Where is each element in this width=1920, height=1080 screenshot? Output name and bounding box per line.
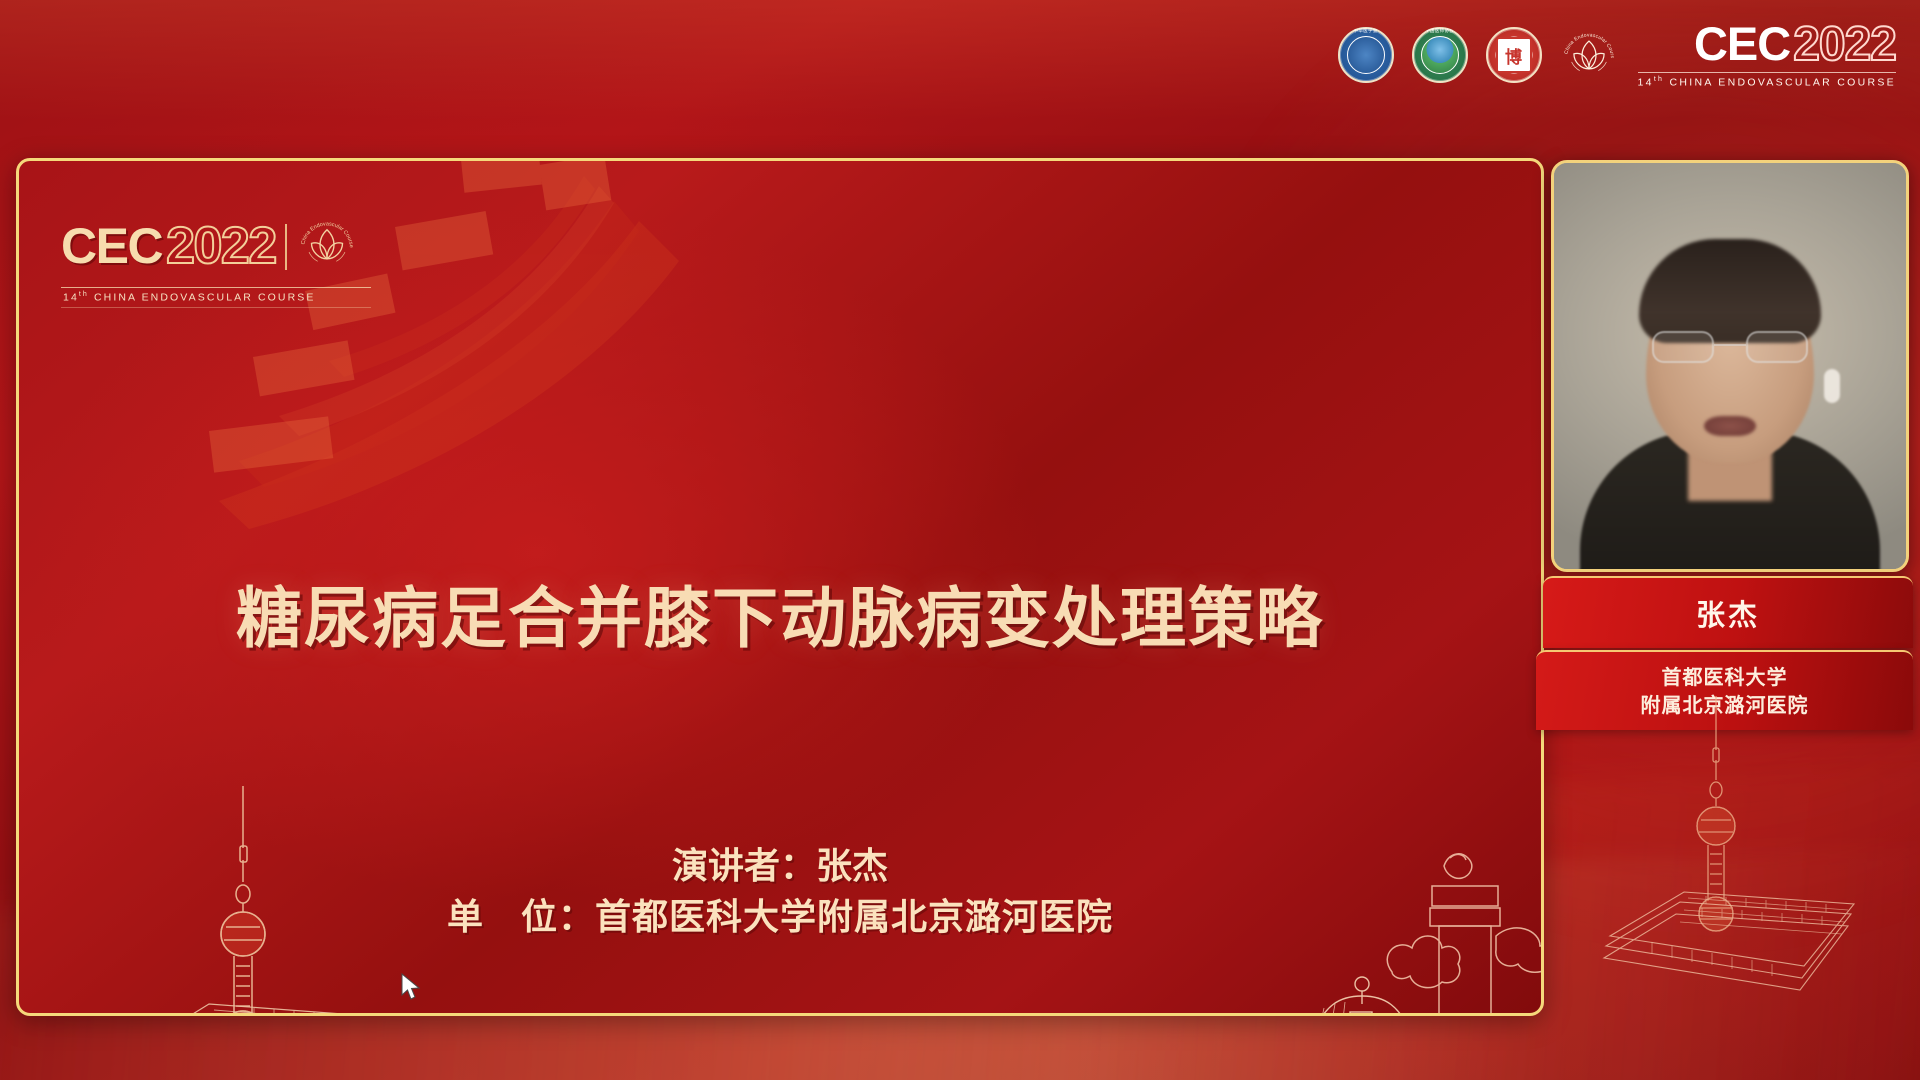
- slide-lotus-caption: China Endovascular Course: [300, 221, 354, 248]
- slide-cec-year: 2022: [166, 223, 276, 270]
- speaker-glasses-icon: [1652, 331, 1808, 365]
- speaker-affiliation-plate: 首都医科大学 附属北京潞河医院: [1536, 650, 1913, 730]
- slide-sub-rest: CHINA ENDOVASCULAR COURSE: [94, 292, 316, 304]
- slide-title: 糖尿病足合并膝下动脉病变处理策略: [19, 565, 1541, 661]
- mouse-pointer-icon: [401, 973, 423, 1003]
- slide-cec-subtitle: 14th CHINA ENDOVASCULAR COURSE: [61, 287, 371, 308]
- webinar-screen: 中华医学会 中国医师协会: [0, 0, 1920, 1080]
- seal-china-health-association-icon: 中国医师协会: [1412, 27, 1468, 83]
- affiliation-line-2: 附属北京潞河医院: [1641, 691, 1809, 719]
- speaker-earbud-icon: [1824, 369, 1840, 403]
- slide-unit-line: 单 位：首都医科大学附属北京潞河医院: [19, 892, 1541, 943]
- slide-speaker-line: 演讲者：张杰: [19, 841, 1541, 892]
- presentation-slide[interactable]: CEC 2022: [16, 158, 1544, 1016]
- header-sub-rest: CHINA ENDOVASCULAR COURSE: [1669, 76, 1896, 88]
- slide-cec-logo: CEC 2022: [61, 213, 371, 308]
- seal-label-2: 中国医师协会: [1412, 27, 1468, 83]
- speaker-video-card[interactable]: [1551, 160, 1909, 572]
- slide-sub-ordinal: 14: [63, 292, 79, 304]
- header-cec-wordmark: CEC 2022 14th CHINA ENDOVASCULAR COURSE: [1638, 22, 1896, 88]
- seal-chinese-medical-association-icon: 中华医学会: [1338, 27, 1394, 83]
- header-logo-strip: 中华医学会 中国医师协会: [1338, 16, 1896, 94]
- slide-cec-lotus-icon: China Endovascular Course: [296, 213, 358, 280]
- affiliation-line-1: 首都医科大学: [1662, 663, 1788, 691]
- speaker-hair: [1639, 239, 1821, 343]
- background-oriental-pearl-tower-icon: [1596, 696, 1864, 996]
- header-sub-suffix: th: [1654, 76, 1664, 83]
- header-sub-ordinal: 14: [1638, 76, 1654, 88]
- slide-cec-text: CEC: [61, 224, 162, 269]
- speaker-video-feed[interactable]: [1554, 163, 1906, 569]
- seal-boao-hospital-icon: [1486, 27, 1542, 83]
- speaker-name-plate: 张杰: [1543, 576, 1913, 648]
- slide-sub-suffix: th: [79, 291, 89, 298]
- logo-divider: [285, 224, 287, 270]
- cec-lotus-icon: China Endovascular Course: [1560, 26, 1618, 84]
- header-cec-text: CEC: [1694, 22, 1790, 67]
- seal-label-1: 中华医学会: [1338, 27, 1394, 83]
- svg-text:China Endovascular Course: China Endovascular Course: [300, 221, 354, 248]
- header-cec-subtitle: 14th CHINA ENDOVASCULAR COURSE: [1638, 72, 1896, 89]
- header-cec-year: 2022: [1793, 22, 1896, 68]
- speaker-name: 张杰: [1696, 592, 1760, 634]
- slide-speaker-info: 演讲者：张杰 单 位：首都医科大学附属北京潞河医院: [19, 841, 1541, 943]
- speaker-mouth: [1704, 416, 1756, 436]
